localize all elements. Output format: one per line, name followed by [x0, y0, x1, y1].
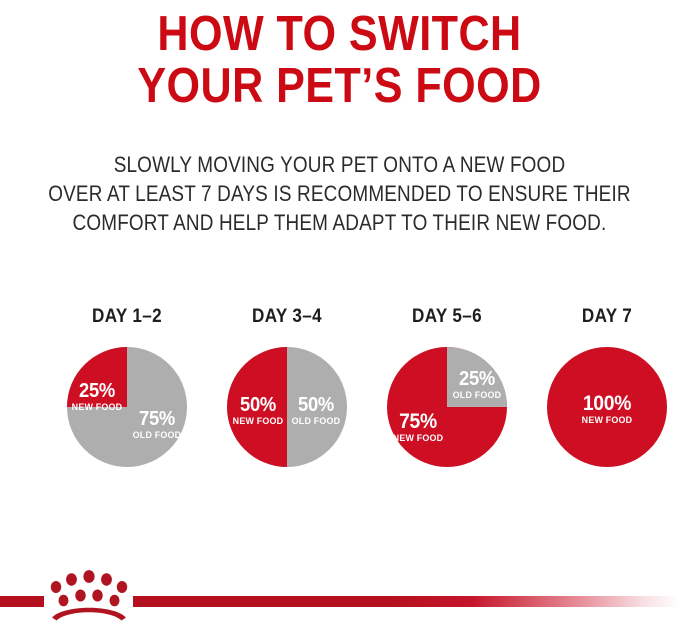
pie-graphic-day-5-6: 25% OLD FOOD 75% NEW FOOD	[387, 347, 507, 467]
pie-chart-day-1-2: DAY 1–2 25% NEW FOOD 75% OLD FOOD	[47, 306, 207, 486]
pie-label-day-7: DAY 7	[535, 306, 679, 328]
description-text: SLOWLY MOVING YOUR PET ONTO A NEW FOOD O…	[0, 150, 679, 237]
royal-canin-crown-icon	[44, 567, 134, 621]
pie-chart-day-3-4: DAY 3–4 50% NEW FOOD 50% OLD FOOD	[207, 306, 367, 486]
pie-chart-day-5-6: DAY 5–6 25% OLD FOOD 75% NEW FOOD	[367, 306, 527, 486]
pie-label-day-1-2: DAY 1–2	[55, 306, 199, 328]
description-line-1: SLOWLY MOVING YOUR PET ONTO A NEW FOOD	[48, 150, 632, 179]
page-title: HOW TO SWITCH YOUR PET’S FOOD	[0, 8, 679, 112]
pie-chart-row: DAY 1–2 25% NEW FOOD 75% OLD FOOD DAY 3–…	[0, 306, 679, 486]
description-line-2: OVER AT LEAST 7 DAYS IS RECOMMENDED TO E…	[48, 179, 632, 208]
page-title-line-2: YOUR PET’S FOOD	[41, 60, 639, 112]
description-line-3: COMFORT AND HELP THEM ADAPT TO THEIR NEW…	[48, 208, 632, 237]
pie-slice-new-food	[547, 347, 667, 467]
pie-chart-day-7: DAY 7 100% NEW FOOD	[527, 306, 679, 486]
pie-slice-new-food	[67, 347, 127, 407]
pie-graphic-day-3-4: 50% NEW FOOD 50% OLD FOOD	[227, 347, 347, 467]
pie-slice-new-food	[227, 347, 287, 467]
pie-graphic-day-1-2: 25% NEW FOOD 75% OLD FOOD	[67, 347, 187, 467]
footer-bar-right	[133, 596, 679, 607]
pie-slice-old-food	[447, 347, 507, 407]
pie-label-day-5-6: DAY 5–6	[375, 306, 519, 328]
pie-label-day-3-4: DAY 3–4	[215, 306, 359, 328]
page-title-line-1: HOW TO SWITCH	[41, 8, 639, 60]
footer-bar-left	[0, 596, 44, 607]
pie-graphic-day-7: 100% NEW FOOD	[547, 347, 667, 467]
